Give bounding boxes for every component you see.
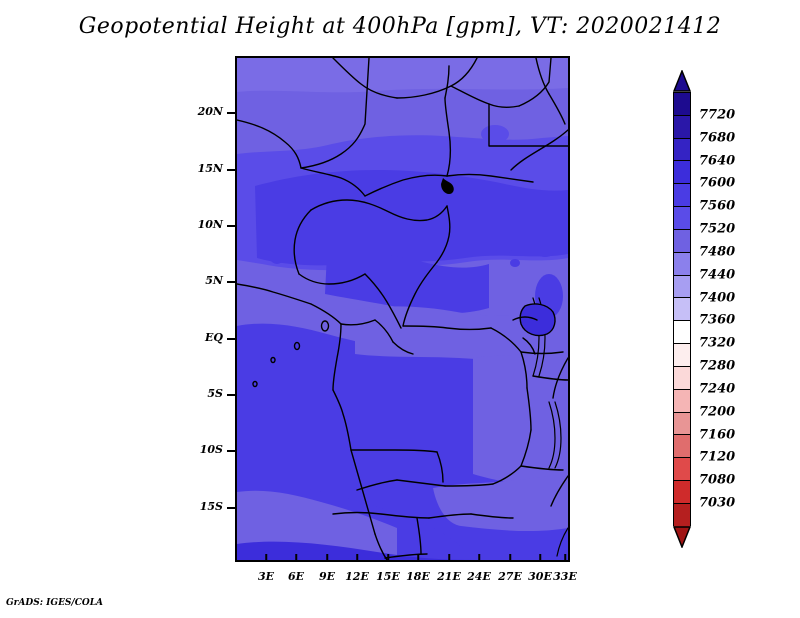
lon-label: 18E xyxy=(406,570,430,583)
map-canvas xyxy=(237,58,568,560)
lat-label: 5N xyxy=(205,274,223,287)
colorbar-swatch xyxy=(674,504,690,527)
lat-label: 5S xyxy=(207,387,223,400)
map-plot-area[interactable] xyxy=(235,56,570,562)
colorbar-scale xyxy=(673,92,691,526)
colorbar-swatch xyxy=(674,344,690,367)
colorbar-tick-label: 7240 xyxy=(699,381,735,396)
lat-label: EQ xyxy=(205,331,223,344)
lon-label: 6E xyxy=(288,570,304,583)
colorbar-tick-label: 7200 xyxy=(699,404,735,419)
lon-label: 33E xyxy=(553,570,577,583)
colorbar[interactable]: 7720768076407600756075207480744074007360… xyxy=(673,70,691,548)
colorbar-swatch xyxy=(674,390,690,413)
grads-credit: GrADS: IGES/COLA xyxy=(6,598,103,608)
colorbar-tick-label: 7520 xyxy=(699,222,735,237)
colorbar-swatch xyxy=(674,184,690,207)
lat-label: 15N xyxy=(198,162,223,175)
lat-label: 15S xyxy=(200,500,223,513)
lat-tick-5S: 5S xyxy=(0,394,235,395)
lat-tick-20N: 20N xyxy=(0,112,235,113)
colorbar-tick-label: 7030 xyxy=(699,496,735,511)
lat-label: 10S xyxy=(200,443,223,456)
colorbar-swatch xyxy=(674,161,690,184)
colorbar-tick-label: 7720 xyxy=(699,107,735,122)
lat-tick-15N: 15N xyxy=(0,169,235,170)
colorbar-tick-label: 7560 xyxy=(699,199,735,214)
colorbar-tick-label: 7400 xyxy=(699,290,735,305)
colorbar-swatch xyxy=(674,298,690,321)
colorbar-swatch xyxy=(674,230,690,253)
lon-label: 27E xyxy=(498,570,522,583)
lat-tick-10N: 10N xyxy=(0,225,235,226)
page-title: Geopotential Height at 400hPa [gpm], VT:… xyxy=(0,14,800,39)
colorbar-swatch xyxy=(674,276,690,299)
colorbar-tick-label: 7120 xyxy=(699,450,735,465)
colorbar-arrow-top xyxy=(673,70,691,92)
lon-label: 12E xyxy=(345,570,369,583)
colorbar-swatch xyxy=(674,253,690,276)
colorbar-tick-label: 7680 xyxy=(699,130,735,145)
colorbar-swatch xyxy=(674,321,690,344)
colorbar-swatch xyxy=(674,207,690,230)
lon-label: 24E xyxy=(467,570,491,583)
lat-tick-EQ: EQ xyxy=(0,338,235,339)
colorbar-swatch xyxy=(674,413,690,436)
colorbar-swatch xyxy=(674,481,690,504)
lat-label: 10N xyxy=(198,218,223,231)
colorbar-swatch xyxy=(674,458,690,481)
lon-label: 21E xyxy=(437,570,461,583)
lon-label: 3E xyxy=(258,570,274,583)
colorbar-tick-label: 7360 xyxy=(699,313,735,328)
lat-tick-5N: 5N xyxy=(0,281,235,282)
colorbar-tick-label: 7480 xyxy=(699,244,735,259)
colorbar-swatch xyxy=(674,93,690,116)
colorbar-tick-label: 7160 xyxy=(699,427,735,442)
lon-label: 15E xyxy=(376,570,400,583)
colorbar-tick-label: 7080 xyxy=(699,473,735,488)
colorbar-tick-label: 7320 xyxy=(699,336,735,351)
colorbar-tick-label: 7600 xyxy=(699,176,735,191)
lat-tick-15S: 15S xyxy=(0,507,235,508)
colorbar-swatch xyxy=(674,435,690,458)
colorbar-swatch xyxy=(674,116,690,139)
colorbar-swatch xyxy=(674,139,690,162)
colorbar-arrow-bottom xyxy=(673,526,691,548)
colorbar-tick-label: 7640 xyxy=(699,153,735,168)
lon-label: 30E xyxy=(528,570,552,583)
lat-tick-10S: 10S xyxy=(0,450,235,451)
lat-label: 20N xyxy=(198,105,223,118)
colorbar-tick-label: 7440 xyxy=(699,267,735,282)
colorbar-swatch xyxy=(674,367,690,390)
colorbar-tick-label: 7280 xyxy=(699,359,735,374)
lon-label: 9E xyxy=(319,570,335,583)
